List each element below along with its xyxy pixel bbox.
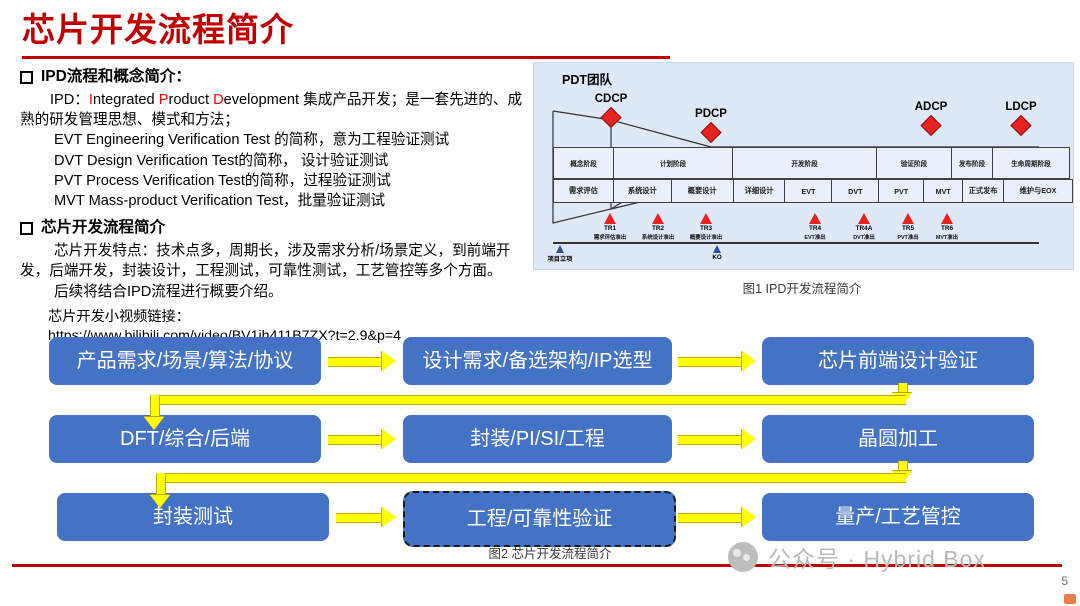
flow-wrap-arrow-2 xyxy=(0,325,1080,550)
square-bullet-icon xyxy=(20,222,33,235)
phase-cell: 生命周期阶段 xyxy=(993,148,1070,179)
square-bullet-icon xyxy=(20,71,33,84)
stage-cell: DVT xyxy=(832,180,879,203)
tr-triangle-tr2 xyxy=(652,213,664,224)
wechat-icon xyxy=(728,542,758,572)
phase-cell: 发布阶段 xyxy=(952,148,993,179)
phase-cell: 验证阶段 xyxy=(877,148,952,179)
tr-name-tr5: TR5 xyxy=(902,225,914,232)
stage-cell: MVT xyxy=(924,180,963,203)
watermark: 公众号 · Hybrid Box xyxy=(728,540,986,574)
tr-triangle-tr4a xyxy=(858,213,870,224)
page-number: 5 xyxy=(1061,574,1068,588)
tr-sub-tr6: MVT准出 xyxy=(936,233,958,241)
content-text-column: IPD流程和概念简介： IPD：Integrated Product Devel… xyxy=(20,66,530,346)
ipd-cap-p: P xyxy=(159,92,169,108)
ipd-definition-paragraph: IPD：Integrated Product Development 集成产品开… xyxy=(20,90,530,130)
test-term-evt: EVT Engineering Verification Test 的简称，意为… xyxy=(20,130,530,150)
phase-cell: 概念阶段 xyxy=(554,148,614,179)
dcp-label-adcp: ADCP xyxy=(915,101,948,113)
tr-sub-tr4: EVT准出 xyxy=(804,233,825,241)
tr-triangle-tr3 xyxy=(700,213,712,224)
test-term-mvt: MVT Mass-product Verification Test，批量验证测… xyxy=(20,191,530,211)
ipd-word-development: evelopment xyxy=(224,92,299,108)
stage-cell: PVT xyxy=(879,180,924,203)
test-term-pvt: PVT Process Verification Test的简称，过程验证测试 xyxy=(20,171,530,191)
ipd-diagram-canvas: CDCPPDCPADCPLDCP概念阶段计划阶段开发阶段验证阶段发布阶段生命周期… xyxy=(534,63,1073,269)
ipd-stage-row: 需求评估系统设计概要设计详细设计EVTDVTPVTMVT正式发布维护与EOX xyxy=(553,179,1073,203)
tr-name-tr4: TR4 xyxy=(809,225,821,232)
stage-cell: 正式发布 xyxy=(963,180,1004,203)
tr-name-tr1: TR1 xyxy=(604,225,616,232)
tr-sub-tr4a: DVT准出 xyxy=(853,233,875,241)
figure1-caption: 图1 IPD开发流程简介 xyxy=(743,278,862,297)
stage-cell: 详细设计 xyxy=(733,180,785,203)
ipd-cap-d: D xyxy=(213,92,224,108)
test-term-dvt: DVT Design Verification Test的简称， 设计验证测试 xyxy=(20,151,530,171)
stage-cell: 需求评估 xyxy=(554,180,614,203)
section-heading-chipflow: 芯片开发流程简介 xyxy=(20,217,530,239)
stage-cell: 系统设计 xyxy=(613,180,671,203)
tr-sub-tr2: 系统设计准出 xyxy=(642,233,674,241)
tr-triangle-tr6 xyxy=(941,213,953,224)
chipflow-paragraph-2: 后续将结合IPD流程进行概要介绍。 xyxy=(20,282,530,302)
stage-cell: EVT xyxy=(785,180,832,203)
section-heading-ipd-label: IPD流程和概念简介： xyxy=(41,66,191,88)
chip-development-flowchart: 产品需求/场景/算法/协议设计需求/备选架构/IP选型芯片前端设计验证DFT/综… xyxy=(0,325,1080,550)
stage-cell: 维护与EOX xyxy=(1004,180,1073,203)
tr-sub-tr5: PVT准出 xyxy=(897,233,918,241)
phase-cell: 开发阶段 xyxy=(733,148,877,179)
tr-sub-tr3: 概要设计准出 xyxy=(690,233,722,241)
phase-cell: 计划阶段 xyxy=(614,148,733,179)
dcp-label-cdcp: CDCP xyxy=(595,93,628,105)
chipflow-paragraph-1: 芯片开发特点：技术点多，周期长，涉及需求分析/场景定义，到前端开发，后端开发，封… xyxy=(20,241,530,281)
ipd-phase-row: 概念阶段计划阶段开发阶段验证阶段发布阶段生命周期阶段 xyxy=(553,147,1070,179)
tr-triangle-tr4 xyxy=(809,213,821,224)
ipd-diagram-panel: PDT团队 CDCPPDCPADCPLDCP概念阶段计划阶段开发阶段验证阶段发布… xyxy=(533,62,1074,270)
tr-name-tr2: TR2 xyxy=(652,225,664,232)
milestone-triangle xyxy=(556,245,564,253)
tr-name-tr6: TR6 xyxy=(941,225,953,232)
milestone-label: KO xyxy=(712,254,721,261)
tr-sub-tr1: 需求评估准出 xyxy=(594,233,626,241)
ipd-word-product: roduct xyxy=(168,92,213,108)
video-link-label: 芯片开发小视频链接： xyxy=(20,308,530,327)
stage-cell: 概要设计 xyxy=(671,180,733,203)
ipd-word-integrated: ntegrated xyxy=(93,92,159,108)
tr-triangle-tr5 xyxy=(902,213,914,224)
title-underline xyxy=(22,56,670,59)
tr-name-tr4a: TR4A xyxy=(856,225,873,232)
figure2-caption: 图2 芯片开发流程简介 xyxy=(489,543,612,562)
ipd-timeline-axis xyxy=(553,242,1039,244)
ipd-abbrev: IPD： xyxy=(50,92,89,108)
corner-badge-icon xyxy=(1064,594,1076,604)
milestone-triangle xyxy=(713,245,721,253)
dcp-label-ldcp: LDCP xyxy=(1005,101,1036,113)
section-heading-ipd: IPD流程和概念简介： xyxy=(20,66,530,88)
section-heading-chipflow-label: 芯片开发流程简介 xyxy=(41,217,165,239)
tr-triangle-tr1 xyxy=(604,213,616,224)
tr-name-tr3: TR3 xyxy=(700,225,712,232)
watermark-text: 公众号 · Hybrid Box xyxy=(768,540,986,574)
milestone-label: 项目立项 xyxy=(548,254,573,263)
dcp-label-pdcp: PDCP xyxy=(695,108,727,120)
page-title: 芯片开发流程简介 xyxy=(22,8,294,52)
